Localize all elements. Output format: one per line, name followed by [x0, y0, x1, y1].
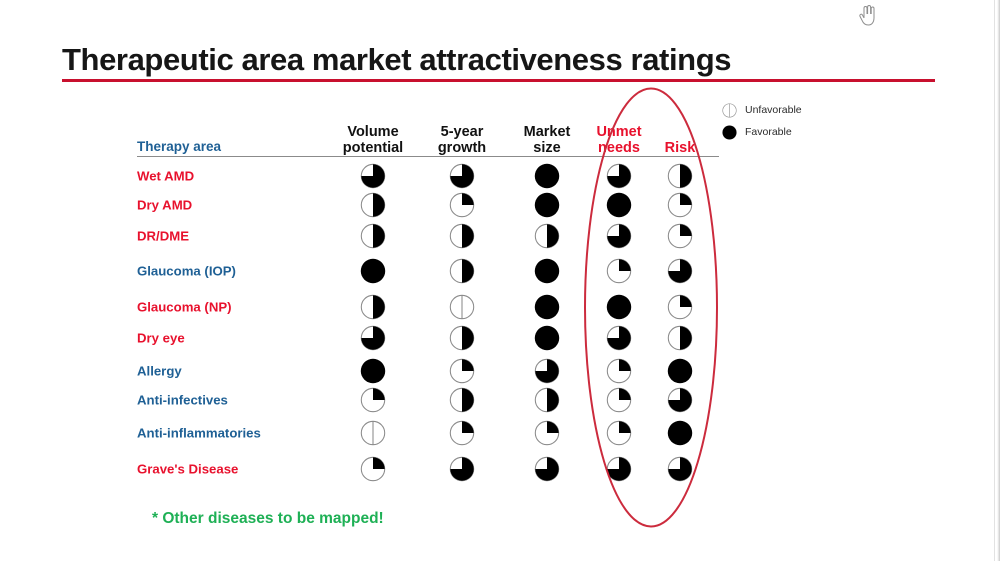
rating-ball — [606, 163, 632, 189]
rating-ball — [534, 387, 560, 413]
row-label-dry-eye: Dry eye — [137, 331, 327, 346]
column-header-line: Volume — [328, 124, 418, 140]
rating-ball — [606, 325, 632, 351]
rating-ball — [606, 420, 632, 446]
rating-ball — [449, 387, 475, 413]
full-harvey-ball-icon — [722, 125, 737, 140]
rating-ball — [360, 387, 386, 413]
rating-ball — [360, 456, 386, 482]
rating-ball — [667, 420, 693, 446]
rating-ball — [667, 325, 693, 351]
rating-ball — [667, 294, 693, 320]
rating-ball — [667, 358, 693, 384]
rating-ball — [534, 192, 560, 218]
rating-ball — [449, 358, 475, 384]
rating-ball — [534, 358, 560, 384]
rating-ball — [667, 387, 693, 413]
rating-ball — [534, 325, 560, 351]
rating-ball — [360, 258, 386, 284]
rating-ball — [606, 223, 632, 249]
table-header-rule — [137, 156, 719, 157]
page-title: Therapeutic area market attractiveness r… — [62, 42, 731, 78]
column-header-line: Unmet — [574, 124, 664, 140]
rating-ball — [534, 294, 560, 320]
rating-ball — [606, 192, 632, 218]
page-right-edge — [994, 0, 1000, 561]
legend-item-label: Favorable — [745, 127, 792, 138]
column-header-line: potential — [328, 140, 418, 156]
column-header-line: growth — [417, 140, 507, 156]
legend-item: Unfavorable — [722, 101, 872, 120]
ratings-table: Therapy areaVolumepotential5-yeargrowthM… — [137, 110, 719, 156]
rating-ball — [449, 163, 475, 189]
rating-ball — [667, 192, 693, 218]
rating-ball — [606, 387, 632, 413]
rating-ball — [667, 163, 693, 189]
rating-ball — [449, 223, 475, 249]
rating-ball — [360, 420, 386, 446]
row-label-wet-amd: Wet AMD — [137, 169, 327, 184]
rating-ball — [360, 192, 386, 218]
row-label-glaucoma-np-: Glaucoma (NP) — [137, 300, 327, 315]
footnote-text: * Other diseases to be mapped! — [152, 510, 384, 528]
row-label-allergy: Allergy — [137, 364, 327, 379]
legend-item-label: Unfavorable — [745, 105, 802, 116]
table-header-row: Therapy areaVolumepotential5-yeargrowthM… — [137, 110, 719, 156]
rating-ball — [360, 325, 386, 351]
rating-ball — [534, 258, 560, 284]
rating-ball — [534, 163, 560, 189]
rating-ball — [449, 420, 475, 446]
rating-ball — [360, 358, 386, 384]
slide-canvas: Therapeutic area market attractiveness r… — [0, 0, 1000, 561]
column-header-line: Risk — [635, 140, 725, 156]
rating-ball — [534, 420, 560, 446]
rating-ball — [606, 358, 632, 384]
row-label-glaucoma-iop-: Glaucoma (IOP) — [137, 264, 327, 279]
legend: UnfavorableFavorable — [722, 101, 872, 145]
rating-ball — [606, 456, 632, 482]
rating-ball — [449, 456, 475, 482]
rating-ball — [360, 163, 386, 189]
row-label-anti-infectives: Anti-infectives — [137, 393, 327, 408]
row-label-grave-s-disease: Grave's Disease — [137, 462, 327, 477]
rating-ball — [667, 258, 693, 284]
row-label-anti-inflammatories: Anti-inflammatories — [137, 426, 327, 441]
column-header-volume-potential: Volumepotential — [328, 124, 418, 156]
column-header-5-year-growth: 5-yeargrowth — [417, 124, 507, 156]
rating-ball — [534, 223, 560, 249]
row-label-dry-amd: Dry AMD — [137, 198, 327, 213]
rating-ball — [449, 325, 475, 351]
column-header-therapy-area: Therapy area — [137, 139, 307, 154]
title-underline-rule — [62, 79, 935, 82]
legend-item: Favorable — [722, 123, 872, 142]
rating-ball — [449, 258, 475, 284]
empty-harvey-ball-icon — [722, 103, 737, 118]
rating-ball — [667, 456, 693, 482]
rating-ball — [449, 192, 475, 218]
rating-ball — [360, 223, 386, 249]
column-header-risk: Risk — [635, 140, 725, 156]
rating-ball — [360, 294, 386, 320]
rating-ball — [449, 294, 475, 320]
rating-ball — [667, 223, 693, 249]
column-header-line: 5-year — [417, 124, 507, 140]
row-label-dr-dme: DR/DME — [137, 229, 327, 244]
rating-ball — [606, 294, 632, 320]
rating-ball — [534, 456, 560, 482]
rating-ball — [606, 258, 632, 284]
hand-pointer-cursor-icon — [857, 5, 877, 27]
